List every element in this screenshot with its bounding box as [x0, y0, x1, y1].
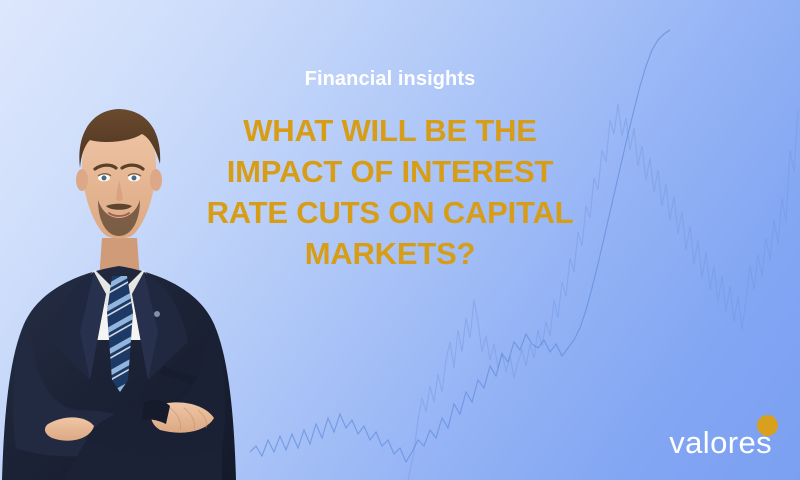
logo-wordmark: valores [669, 425, 772, 460]
page-title-line: IMPACT OF INTEREST [227, 154, 554, 189]
copy-block: Financial insights WHAT WILL BE THEIMPAC… [185, 68, 595, 274]
page-title-line: WHAT WILL BE THE [243, 113, 537, 148]
circle-accent-icon [757, 415, 778, 436]
valores-logo[interactable]: valores [669, 412, 772, 458]
page-title: WHAT WILL BE THEIMPACT OF INTERESTRATE C… [185, 110, 595, 274]
eyebrow-label: Financial insights [185, 68, 595, 90]
financial-insights-banner: Financial insights WHAT WILL BE THEIMPAC… [0, 0, 800, 480]
page-title-line: RATE CUTS ON CAPITAL [207, 195, 574, 230]
page-title-line: MARKETS? [305, 236, 476, 271]
